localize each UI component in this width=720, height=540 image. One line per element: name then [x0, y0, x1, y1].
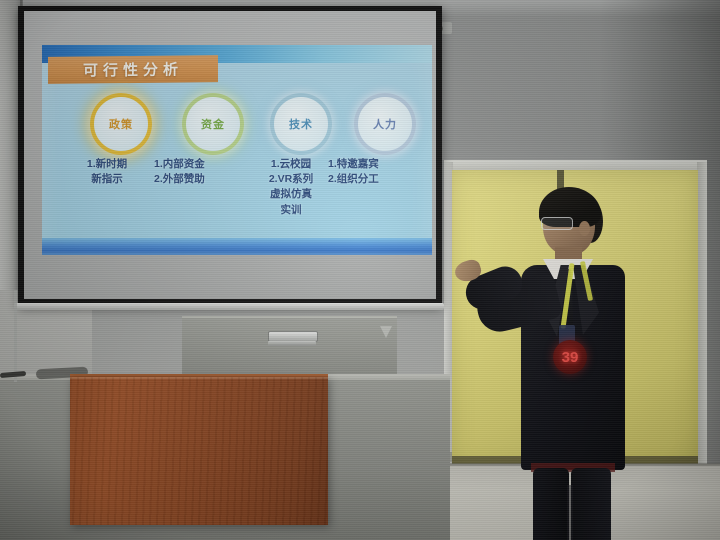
slide-circle-label: 政策	[109, 116, 133, 132]
slide-column-technology: 1.云校园 2.VR系列 虚拟仿真 实训	[254, 157, 328, 218]
slide-circle-policy: 政策	[90, 93, 152, 155]
slide-title-banner: 可行性分析	[48, 55, 218, 84]
classroom-presentation-photo: 可行性分析 政策 资金 技术 人力	[0, 0, 720, 540]
presenter: 39	[455, 185, 655, 540]
screen-bottom-bar	[14, 303, 444, 310]
slide-circle-label: 人力	[373, 116, 397, 132]
slide-column-policy: 1.新时期 新指示	[64, 157, 150, 187]
projected-slide: 可行性分析 政策 资金 技术 人力	[42, 45, 432, 255]
slide-text-columns: 1.新时期 新指示 1.内部资金 2.外部赞助 1.云校园 2.VR系列 虚拟仿…	[42, 157, 432, 241]
projector-screen-frame: 可行性分析 政策 资金 技术 人力	[18, 6, 442, 306]
slide-circle-technology: 技术	[270, 93, 332, 155]
slide-circle-label: 资金	[201, 116, 225, 132]
wood-grain-texture	[70, 377, 328, 525]
slide-column-manpower: 1.特邀嘉宾 2.组织分工	[328, 157, 414, 187]
slide-circle-label: 技术	[289, 116, 313, 132]
desk-back-panel	[182, 318, 397, 380]
door-frame-right	[697, 162, 707, 474]
slide-bottom-band	[42, 238, 432, 255]
slide-column-funding: 1.内部资金 2.外部赞助	[154, 157, 246, 187]
glasses-icon	[541, 217, 573, 230]
slide-circle-row: 政策 资金 技术 人力	[42, 93, 432, 153]
trouser-leg-right	[571, 468, 611, 540]
wooden-podium	[70, 377, 328, 525]
slide-title: 可行性分析	[83, 58, 183, 80]
trouser-leg-left	[533, 468, 569, 540]
trouser-crease	[567, 485, 573, 540]
desk-handle-lower	[268, 341, 316, 346]
ear	[579, 221, 590, 236]
projector-screen-surface: 可行性分析 政策 资金 技术 人力	[24, 11, 436, 299]
contestant-number-badge: 39	[553, 340, 587, 374]
slide-circle-funding: 资金	[182, 93, 244, 155]
slide-circle-manpower: 人力	[354, 93, 416, 155]
hanging-cable	[14, 290, 17, 382]
